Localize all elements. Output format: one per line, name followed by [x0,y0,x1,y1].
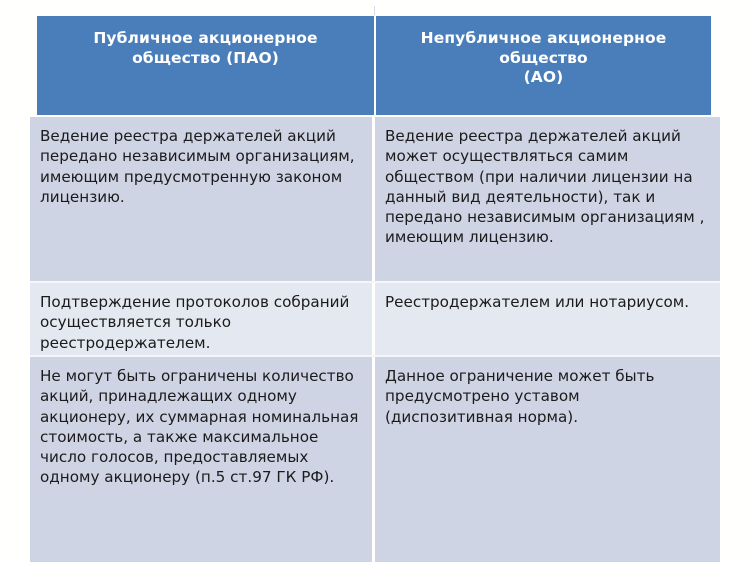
cell-pao-registry: Ведение реестра держателей акций передан… [30,117,375,281]
table-row: Подтверждение протоколов собраний осущес… [30,283,720,357]
cell-text: Реестродержателем или нотариусом. [385,292,708,312]
table-row: Ведение реестра держателей акций передан… [30,117,720,283]
cell-text: Ведение реестра держателей акций передан… [40,126,360,207]
column-header-ao-line-2: общество [499,49,588,69]
cell-text: Ведение реестра держателей акций может о… [385,126,708,248]
cell-ao-registry: Ведение реестра держателей акций может о… [375,117,720,281]
cell-text: Подтверждение протоколов собраний осущес… [40,292,360,353]
top-tick-mark [374,6,375,15]
table-row: Не могут быть ограничены количество акци… [30,357,720,562]
cell-text: Данное ограничение может быть предусмотр… [385,366,708,427]
cell-ao-minutes: Реестродержателем или нотариусом. [375,283,720,355]
column-header-pao: Публичное акционерное общество (ПАО) [37,16,374,115]
cell-pao-minutes: Подтверждение протоколов собраний осущес… [30,283,375,355]
column-header-ao: Непубличное акционерное общество (АО) [376,16,711,115]
table-body: Ведение реестра держателей акций передан… [30,117,720,562]
cell-text: Не могут быть ограничены количество акци… [40,366,360,488]
column-header-ao-line-1: Непубличное акционерное [421,29,667,49]
column-header-pao-line-1: Публичное акционерное [93,29,317,49]
column-header-ao-line-3: (АО) [524,68,564,88]
table-header-row: Публичное акционерное общество (ПАО) Неп… [37,16,711,115]
column-header-pao-line-2: общество (ПАО) [132,49,279,69]
comparison-table-page: Публичное акционерное общество (ПАО) Неп… [0,0,750,562]
cell-ao-restrictions: Данное ограничение может быть предусмотр… [375,357,720,562]
cell-pao-restrictions: Не могут быть ограничены количество акци… [30,357,375,562]
